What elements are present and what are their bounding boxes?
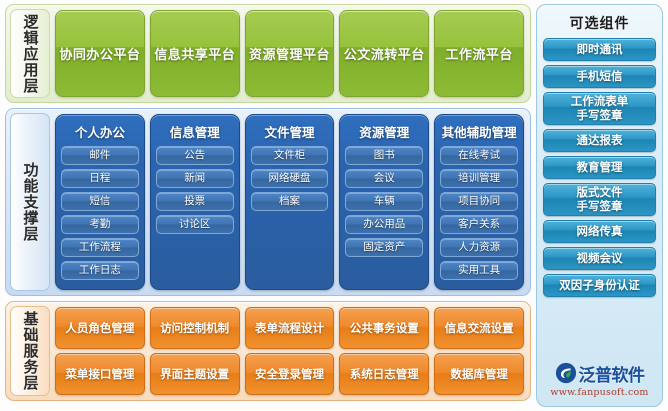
layer-basic-service: 基础服务层 人员角色管理 访问控制机制 表单流程设计 公共事务设置 信息交流设置… xyxy=(5,301,531,401)
layer-label-text: 逻辑应用层 xyxy=(23,14,38,94)
module-column-other-assist: 其他辅助管理 在线考试 培训管理 项目协同 客户关系 人力资源 实用工具 xyxy=(434,114,524,290)
module-item[interactable]: 投票 xyxy=(156,192,234,211)
module-item[interactable]: 日程 xyxy=(61,169,139,188)
module-item[interactable]: 档案 xyxy=(251,192,329,211)
sidebar-panel: 可选组件 即时通讯 手机短信 工作流表单 手写签章 通达报表 教育管理 版式文件… xyxy=(536,4,663,407)
module-item[interactable]: 工作日志 xyxy=(61,261,139,280)
service-card-secure-login[interactable]: 安全登录管理 xyxy=(245,353,335,395)
module-item[interactable]: 工作流程 xyxy=(61,238,139,257)
sidebar-item-video-conference[interactable]: 视频会议 xyxy=(543,247,656,270)
platform-card-collab-office[interactable]: 协同办公平台 xyxy=(55,10,145,97)
module-item-list: 在线考试 培训管理 项目协同 客户关系 人力资源 实用工具 xyxy=(440,146,518,280)
module-item[interactable]: 会议 xyxy=(345,169,423,188)
module-item[interactable]: 项目协同 xyxy=(440,192,518,211)
sidebar-item-instant-messaging[interactable]: 即时通讯 xyxy=(543,38,656,61)
sidebar-item-list: 即时通讯 手机短信 工作流表单 手写签章 通达报表 教育管理 版式文件 手写签章… xyxy=(543,38,656,353)
platform-card-workflow[interactable]: 工作流平台 xyxy=(434,10,524,97)
architecture-diagram: 逻辑应用层 协同办公平台 信息共享平台 资源管理平台 公文流转平台 工作流平台 … xyxy=(0,0,668,411)
sidebar-item-network-fax[interactable]: 网络传真 xyxy=(543,220,656,243)
service-row: 菜单接口管理 界面主题设置 安全登录管理 系统日志管理 数据库管理 xyxy=(55,353,524,395)
module-item[interactable]: 公告 xyxy=(156,146,234,165)
platform-card-document-flow[interactable]: 公文流转平台 xyxy=(339,10,429,97)
module-item[interactable]: 办公用品 xyxy=(345,215,423,234)
layer-label-function-support: 功能支撑层 xyxy=(10,113,50,291)
module-item[interactable]: 考勤 xyxy=(61,215,139,234)
layer-label-logic-application: 逻辑应用层 xyxy=(10,9,50,98)
platform-card-info-share[interactable]: 信息共享平台 xyxy=(150,10,240,97)
layer-body-logic-application: 协同办公平台 信息共享平台 资源管理平台 公文流转平台 工作流平台 xyxy=(53,5,530,102)
module-item[interactable]: 人力资源 xyxy=(440,238,518,257)
fanpu-logo-icon xyxy=(555,362,577,384)
service-card-info-exchange[interactable]: 信息交流设置 xyxy=(434,307,524,349)
logo-website-url: www.fanpusoft.com xyxy=(550,387,648,398)
sidebar-item-education-mgmt[interactable]: 教育管理 xyxy=(543,156,656,179)
sidebar-item-workflow-form-signature[interactable]: 工作流表单 手写签章 xyxy=(543,92,656,124)
layer-stack: 逻辑应用层 协同办公平台 信息共享平台 资源管理平台 公文流转平台 工作流平台 … xyxy=(0,0,534,411)
layer-logic-application: 逻辑应用层 协同办公平台 信息共享平台 资源管理平台 公文流转平台 工作流平台 xyxy=(5,4,531,103)
module-item[interactable]: 客户关系 xyxy=(440,215,518,234)
layer-body-basic-service: 人员角色管理 访问控制机制 表单流程设计 公共事务设置 信息交流设置 菜单接口管… xyxy=(53,302,530,400)
service-card-system-log[interactable]: 系统日志管理 xyxy=(339,353,429,395)
service-card-form-flow-design[interactable]: 表单流程设计 xyxy=(245,307,335,349)
module-item-list: 图书 会议 车辆 办公用品 固定资产 xyxy=(345,146,423,257)
module-item[interactable]: 网络硬盘 xyxy=(251,169,329,188)
module-column-title: 其他辅助管理 xyxy=(440,119,518,146)
module-column-file-management: 文件管理 文件柜 网络硬盘 档案 xyxy=(245,114,335,290)
module-item[interactable]: 固定资产 xyxy=(345,238,423,257)
sidebar-item-two-factor-auth[interactable]: 双因子身份认证 xyxy=(543,274,656,297)
module-item-list: 文件柜 网络硬盘 档案 xyxy=(251,146,329,211)
service-card-public-affairs[interactable]: 公共事务设置 xyxy=(339,307,429,349)
platform-card-resource-mgmt[interactable]: 资源管理平台 xyxy=(245,10,335,97)
module-column-title: 文件管理 xyxy=(251,119,329,146)
module-column-title: 个人办公 xyxy=(61,119,139,146)
sidebar-item-layout-file-signature[interactable]: 版式文件 手写签章 xyxy=(543,183,656,215)
service-row: 人员角色管理 访问控制机制 表单流程设计 公共事务设置 信息交流设置 xyxy=(55,307,524,349)
module-item[interactable]: 新闻 xyxy=(156,169,234,188)
service-card-database-mgmt[interactable]: 数据库管理 xyxy=(434,353,524,395)
module-item[interactable]: 短信 xyxy=(61,192,139,211)
module-column-personal-office: 个人办公 邮件 日程 短信 考勤 工作流程 工作日志 xyxy=(55,114,145,290)
service-card-role-mgmt[interactable]: 人员角色管理 xyxy=(55,307,145,349)
logo-company-name: 泛普软件 xyxy=(579,361,645,386)
module-item[interactable]: 实用工具 xyxy=(440,261,518,280)
sidebar-item-tongda-report[interactable]: 通达报表 xyxy=(543,129,656,152)
layer-label-basic-service: 基础服务层 xyxy=(10,306,50,396)
company-logo: 泛普软件 www.fanpusoft.com xyxy=(543,356,656,402)
module-item[interactable]: 讨论区 xyxy=(156,215,234,234)
module-column-title: 资源管理 xyxy=(345,119,423,146)
layer-function-support: 功能支撑层 个人办公 邮件 日程 短信 考勤 工作流程 工作日志 信息管理 xyxy=(5,108,531,296)
service-card-access-control[interactable]: 访问控制机制 xyxy=(150,307,240,349)
module-item[interactable]: 文件柜 xyxy=(251,146,329,165)
logo-row: 泛普软件 xyxy=(555,361,645,386)
sidebar-item-mobile-sms[interactable]: 手机短信 xyxy=(543,65,656,88)
module-item-list: 公告 新闻 投票 讨论区 xyxy=(156,146,234,234)
module-item[interactable]: 图书 xyxy=(345,146,423,165)
module-item[interactable]: 车辆 xyxy=(345,192,423,211)
module-item[interactable]: 培训管理 xyxy=(440,169,518,188)
optional-components-sidebar: 可选组件 即时通讯 手机短信 工作流表单 手写签章 通达报表 教育管理 版式文件… xyxy=(534,0,668,411)
module-item-list: 邮件 日程 短信 考勤 工作流程 工作日志 xyxy=(61,146,139,280)
module-item[interactable]: 在线考试 xyxy=(440,146,518,165)
layer-label-text: 功能支撑层 xyxy=(23,162,38,242)
module-column-title: 信息管理 xyxy=(156,119,234,146)
layer-body-function-support: 个人办公 邮件 日程 短信 考勤 工作流程 工作日志 信息管理 公告 新闻 xyxy=(53,109,530,295)
sidebar-title: 可选组件 xyxy=(543,9,656,38)
service-card-menu-interface[interactable]: 菜单接口管理 xyxy=(55,353,145,395)
layer-label-text: 基础服务层 xyxy=(23,311,38,391)
module-column-resource-management: 资源管理 图书 会议 车辆 办公用品 固定资产 xyxy=(339,114,429,290)
service-card-ui-theme[interactable]: 界面主题设置 xyxy=(150,353,240,395)
module-column-info-management: 信息管理 公告 新闻 投票 讨论区 xyxy=(150,114,240,290)
module-item[interactable]: 邮件 xyxy=(61,146,139,165)
